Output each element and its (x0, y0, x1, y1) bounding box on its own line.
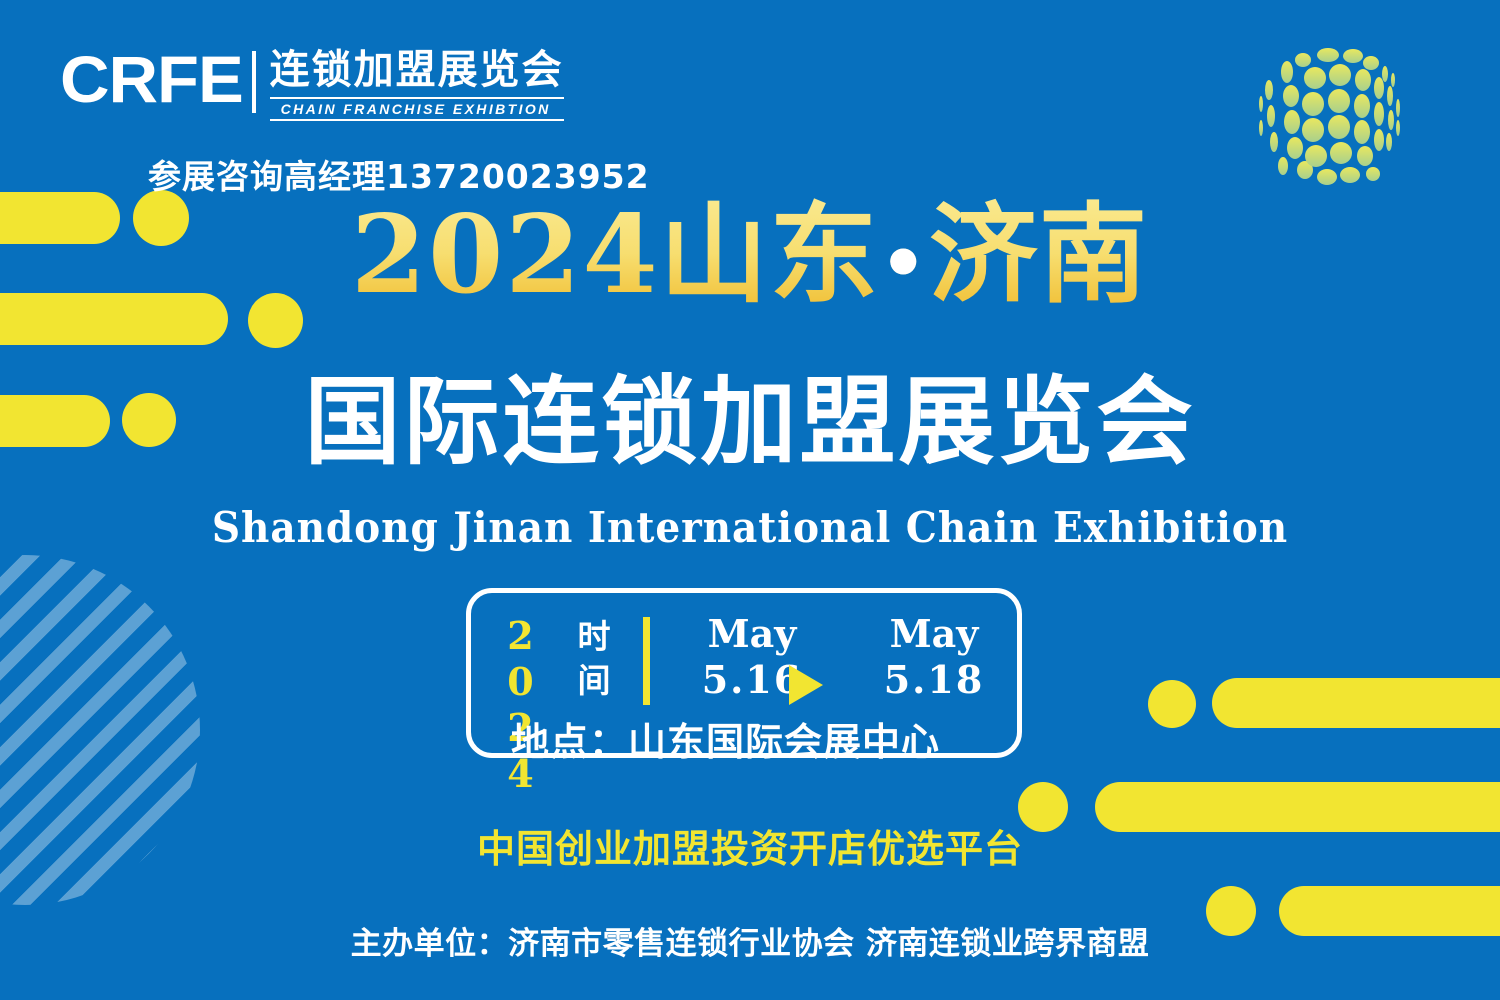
footer-tagline: 中国创业加盟投资开店优选平台 (0, 818, 1500, 873)
end-day: 5.18 (849, 657, 1019, 703)
logo-brand-en: CHAIN FRANCHISE EXHIBTION (270, 97, 564, 121)
headline-suffix: 济南 (929, 192, 1149, 318)
end-month: May (849, 611, 1019, 657)
headline-separator-dot: • (880, 221, 929, 307)
info-end-date: May 5.18 (849, 611, 1019, 703)
info-divider (643, 617, 650, 705)
logo-divider (252, 51, 256, 113)
info-year-vertical: 2024 (505, 613, 535, 721)
event-info-box: 2024 时间 May 5.16 May 5.18 地点：山东国际会展中心 (466, 588, 1022, 758)
contact-phone: 参展咨询高经理13720023952 (148, 150, 650, 198)
logo-brand-text: CRFE (60, 48, 243, 110)
play-triangle-icon (789, 665, 823, 705)
headline-year-city: 2024山东•济南 (0, 196, 1500, 323)
headline-title-cn: 国际连锁加盟展览会 (0, 368, 1500, 476)
logo-brand-cn: 连锁加盟展览会 (270, 48, 564, 92)
info-time-label: 时间 (563, 615, 625, 703)
headline-prefix: 2024山东 (351, 192, 880, 318)
start-month: May (667, 611, 837, 657)
info-venue: 地点：山东国际会展中心 (511, 711, 1017, 766)
exhibition-poster: CRFE 连锁加盟展览会 CHAIN FRANCHISE EXHIBTION 参… (0, 0, 1500, 1000)
footer-organizer: 主办单位：济南市零售连锁行业协会 济南连锁业跨界商盟 (0, 918, 1500, 963)
crfe-logo: CRFE 连锁加盟展览会 CHAIN FRANCHISE EXHIBTION (60, 48, 564, 121)
headline-title-en: Shandong Jinan International Chain Exhib… (53, 503, 1448, 552)
